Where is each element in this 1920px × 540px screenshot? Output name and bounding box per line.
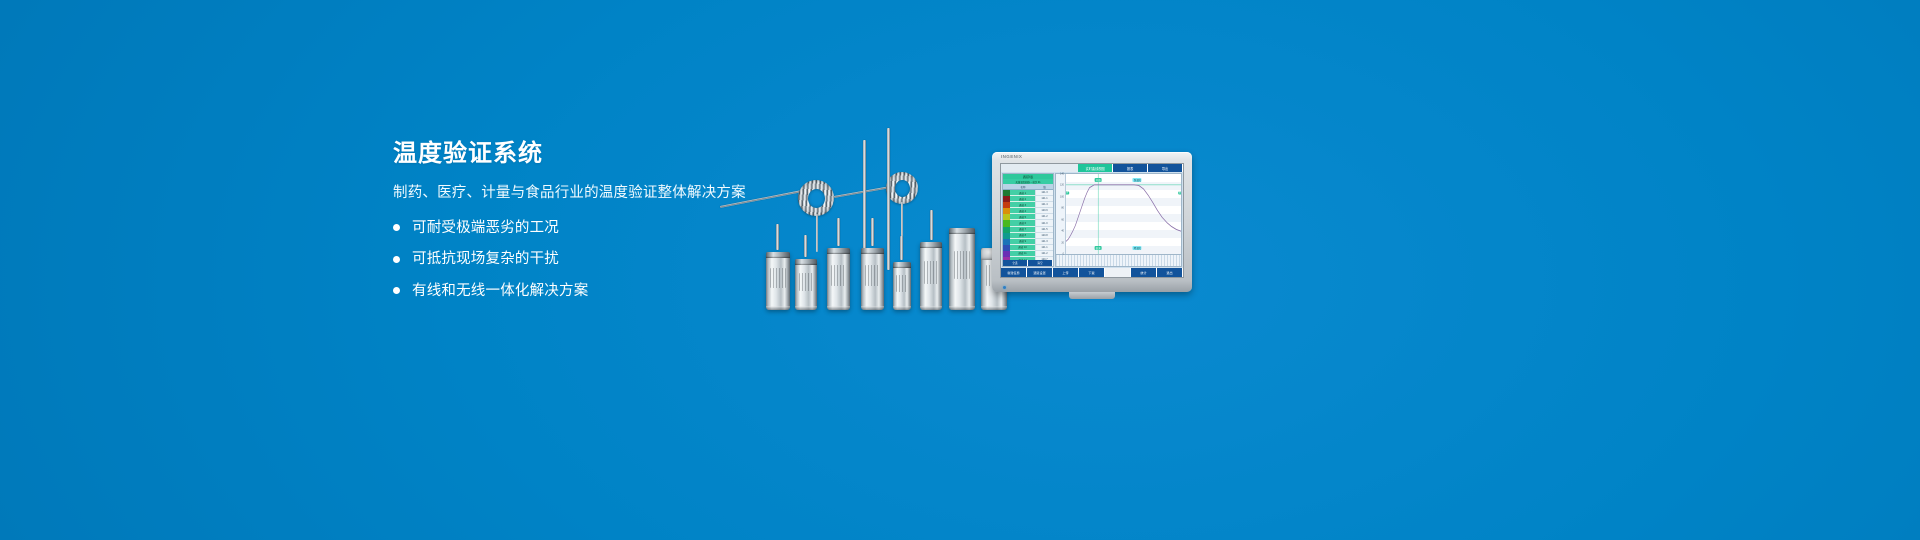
y-axis-tick: 0: [1063, 253, 1064, 256]
coiled-probe-coil-hole-2: [895, 180, 910, 197]
monitor-screen: 实时曲线视图 报表 导出 通道列表 灭菌温度曲线 – 批次 01 名称 值: [1000, 163, 1184, 278]
footer-spacer: [1105, 268, 1131, 277]
logger-stem-6: [930, 210, 933, 240]
toolbar-spacer: [1001, 164, 1078, 172]
clear-button[interactable]: 清空: [1028, 260, 1053, 266]
cylindrical-data-logger: [893, 262, 911, 310]
coiled-probe-lead-1: [720, 190, 805, 208]
cylindrical-data-logger: [766, 252, 790, 310]
start-marker[interactable]: 开始: [1095, 178, 1102, 182]
logger-label: [924, 261, 938, 284]
logger-cap: [827, 248, 850, 254]
software-toolbar: 实时曲线视图 报表 导出: [1001, 164, 1183, 172]
logger-stem-1: [776, 224, 779, 250]
y-axis-tick: 100: [1060, 195, 1064, 198]
monitor-stand: [1069, 292, 1115, 299]
coiled-probe-stem-1: [816, 214, 818, 252]
bullet-dot-icon: [393, 224, 400, 231]
cylindrical-data-logger: [827, 248, 850, 310]
tab-report[interactable]: 报表: [1113, 164, 1148, 172]
logger-cap: [893, 262, 911, 268]
power-led-icon: [1003, 286, 1006, 289]
level-right[interactable]: B: [1178, 192, 1181, 195]
note-1[interactable]: 保温段: [1133, 178, 1142, 182]
cylindrical-data-logger: [795, 259, 817, 310]
tab-export[interactable]: 导出: [1148, 164, 1183, 172]
bullet-label: 可抵抗现场复杂的干扰: [412, 252, 559, 267]
chart-y-axis: 140120100806040200: [1056, 174, 1066, 254]
level-left[interactable]: A: [1066, 192, 1069, 195]
footer-button-0[interactable]: 新建任务: [1001, 268, 1027, 277]
bullet-dot-icon: [393, 287, 400, 294]
logger-cap: [861, 248, 884, 254]
chart-main: 140120100806040200 开始结束AB保温段降温段: [1056, 174, 1181, 254]
channel-table-footer: 全选 清空: [1003, 260, 1053, 266]
logger-label: [799, 273, 813, 290]
bullet-dot-icon: [393, 256, 400, 263]
select-all-button[interactable]: 全选: [1003, 260, 1028, 266]
footer-button-5[interactable]: 统计: [1131, 268, 1157, 277]
cylindrical-data-logger: [861, 248, 884, 310]
hero-banner: 温度验证系统 制药、医疗、计量与食品行业的温度验证整体解决方案 可耐受极端恶劣的…: [0, 0, 1920, 540]
logger-label: [896, 275, 908, 291]
logger-label: [865, 265, 880, 286]
chart-x-axis: [1056, 254, 1181, 266]
cylindrical-data-logger-tall: [949, 228, 975, 310]
footer-button-2[interactable]: 上传: [1053, 268, 1079, 277]
logger-stem-2: [804, 235, 807, 257]
logger-cap: [920, 242, 942, 248]
logger-label: [770, 268, 785, 288]
channel-table: 通道列表 灭菌温度曲线 – 批次 01 名称 值 通道 1121.3通道 212…: [1002, 173, 1054, 267]
y-axis-tick: 80: [1061, 207, 1064, 210]
logger-label: [831, 265, 846, 286]
column-header-value: 值: [1036, 184, 1053, 189]
logger-stem-4: [871, 218, 874, 246]
software-footer-toolbar: 新建任务通道设置上传下载统计退出: [1001, 268, 1183, 277]
monitor-brand-label: INGENIX: [1001, 154, 1022, 159]
y-axis-tick: 60: [1061, 218, 1064, 221]
y-axis-tick: 20: [1061, 241, 1064, 244]
end-marker[interactable]: 结束: [1095, 246, 1102, 250]
logger-stem-5: [900, 236, 903, 260]
y-axis-tick: 140: [1060, 173, 1064, 176]
channel-table-rows: 通道 1121.3通道 2121.1通道 3121.4通道 4120.9通道 5…: [1003, 190, 1053, 260]
bullet-label: 可耐受极端恶劣的工况: [412, 221, 559, 236]
logger-cap: [766, 252, 790, 258]
y-axis-tick: 120: [1060, 184, 1064, 187]
temperature-curve-svg: [1066, 174, 1181, 254]
temperature-series-line: [1066, 185, 1181, 242]
temperature-curve-plot[interactable]: 开始结束AB保温段降温段: [1066, 174, 1181, 254]
chart-panel: 140120100806040200 开始结束AB保温段降温段: [1055, 173, 1182, 267]
coiled-probe-coil-hole-1: [808, 189, 825, 208]
column-header-name: 名称: [1010, 184, 1036, 189]
footer-button-6[interactable]: 退出: [1157, 268, 1183, 277]
logger-cap: [795, 259, 817, 265]
cylindrical-data-logger: [920, 242, 942, 310]
logger-stem-3: [837, 218, 840, 246]
logger-cap: [949, 228, 975, 234]
column-header-swatch: [1003, 184, 1010, 189]
software-body: 通道列表 灭菌温度曲线 – 批次 01 名称 值 通道 1121.3通道 212…: [1001, 172, 1183, 268]
footer-button-3[interactable]: 下载: [1079, 268, 1105, 277]
bullet-label: 有线和无线一体化解决方案: [412, 284, 588, 299]
logger-label: [954, 251, 971, 279]
note-2[interactable]: 降温段: [1133, 246, 1142, 250]
monitor-workstation: INGENIX 实时曲线视图 报表 导出 通道列表 灭菌温度曲线 – 批次 01: [992, 152, 1192, 292]
needle-probe-2: [887, 128, 890, 270]
footer-button-1[interactable]: 通道设置: [1027, 268, 1053, 277]
tab-live-curve[interactable]: 实时曲线视图: [1078, 164, 1113, 172]
monitor-bezel: INGENIX 实时曲线视图 报表 导出 通道列表 灭菌温度曲线 – 批次 01: [992, 152, 1192, 292]
y-axis-tick: 40: [1061, 230, 1064, 233]
